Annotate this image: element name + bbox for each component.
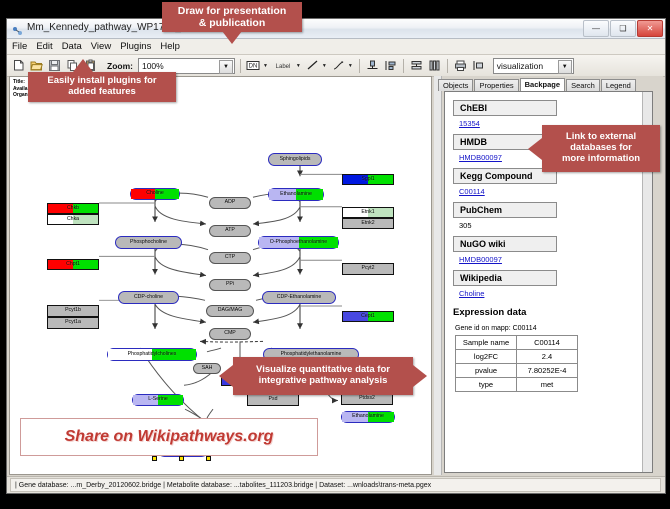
node-label: CTP (225, 255, 235, 260)
distribute-icon[interactable] (427, 58, 442, 73)
node-label: CDP-choline (134, 295, 163, 300)
share-banner-text: Share on Wikipathways.org (65, 428, 274, 446)
toolbar-separator (240, 59, 241, 73)
node-label: Ethanolamine (352, 414, 384, 419)
order-icon[interactable] (471, 58, 486, 73)
callout-visualize: Visualize quantitative data for integrat… (233, 357, 413, 395)
callout-plugins-arrow-icon (73, 59, 93, 72)
node-label: Chpt1 (66, 262, 80, 267)
menu-item-plugins[interactable]: Plugins (120, 41, 151, 52)
menu-item-edit[interactable]: Edit (36, 41, 52, 52)
db-header-nugo: NuGO wiki (453, 236, 557, 252)
panel-left-scrollbar[interactable] (434, 76, 442, 475)
node-label: Ptdss2 (359, 396, 375, 401)
node-label: Pcyt1b (65, 308, 81, 313)
zoom-label: Zoom: (107, 61, 133, 71)
tab-legend[interactable]: Legend (601, 79, 636, 91)
pathway-node-cept1[interactable]: Cept1 (342, 311, 394, 322)
data-node-dropdown-icon[interactable]: ▼ (263, 63, 268, 69)
data-node-icon[interactable]: DN (246, 58, 261, 73)
menu-item-view[interactable]: View (91, 41, 111, 52)
node-label: Sgpl1 (361, 177, 374, 182)
menu-item-file[interactable]: File (12, 41, 27, 52)
pathway-node-sah[interactable]: SAH (193, 363, 221, 374)
db-link-nugo[interactable]: HMDB00097 (459, 255, 652, 264)
node-label: Cept1 (361, 314, 375, 319)
table-cell-label: Sample name (456, 336, 517, 350)
node-label: Ethanolamine (280, 192, 312, 197)
node-label: Phosphocholine (130, 240, 167, 245)
table-row: Sample name C00114 (456, 336, 578, 350)
node-label: ADP (225, 200, 236, 205)
db-header-wikipedia: Wikipedia (453, 270, 557, 286)
pathway-node-cdp_ethanolamine[interactable]: CDP-Ethanolamine (262, 291, 336, 304)
pathway-node-pcyt1b[interactable]: Pcyt1b (47, 305, 99, 317)
pathway-node-etnk1[interactable]: Etnk1 (342, 207, 394, 218)
tab-properties[interactable]: Properties (474, 79, 518, 91)
pathway-node-ophosphoethanolamine[interactable]: O-Phosphoethanolamine (258, 236, 339, 249)
title-bar: Mm_Kennedy_pathway_WP1771_45176.gpml — ❑… (7, 19, 665, 39)
toolbar-separator-2 (359, 59, 360, 73)
callout-draw-arrow-icon (222, 31, 242, 44)
table-cell-label: log2FC (456, 350, 517, 364)
node-label: CDP-Ethanolamine (277, 295, 321, 300)
db-link-wikipedia[interactable]: Choline (459, 289, 652, 298)
chevron-down-icon[interactable]: ▼ (219, 60, 233, 74)
minimize-button[interactable]: — (583, 20, 609, 37)
pathway-node-psd[interactable]: Psd (247, 394, 299, 406)
callout-draw-text: Draw for presentation & publication (178, 5, 287, 29)
pathway-node-phosphocholine[interactable]: Phosphocholine (115, 236, 182, 249)
pathway-node-choline_top[interactable]: Choline (130, 188, 180, 200)
pathway-canvas[interactable]: Title: Availa Organ (9, 76, 432, 475)
interaction-icon[interactable] (331, 58, 346, 73)
callout-links-arrow-icon (528, 138, 542, 160)
pathway-node-pcyt1a[interactable]: Pcyt1a (47, 317, 99, 329)
pathway-node-phosphatidylcholines[interactable]: Phosphatidylcholines (107, 348, 197, 361)
side-panel-tabs: Objects Properties Backpage Search Legen… (438, 78, 653, 91)
status-text: | Gene database: ...m_Derby_20120602.bri… (10, 478, 661, 492)
chevron-down-icon-2[interactable]: ▼ (558, 60, 572, 74)
visualization-value: visualization (497, 61, 543, 71)
toolbar-separator-3 (403, 59, 404, 73)
line-dropdown-icon[interactable]: ▼ (322, 63, 327, 69)
table-cell-label: type (456, 378, 517, 392)
node-label: L-Serine (148, 397, 168, 402)
pathway-node-sphingolipids[interactable]: Sphingolipids (268, 153, 322, 166)
node-label: Phosphatidylcholines (128, 352, 177, 357)
callout-draw: Draw for presentation & publication (162, 2, 302, 32)
pathway-node-dagmag[interactable]: DAG/MAG (206, 305, 254, 317)
save-icon[interactable] (47, 58, 62, 73)
db-value-pubchem: 305 (459, 221, 652, 230)
table-cell-value: C00114 (517, 336, 578, 350)
node-label: CMP (224, 331, 236, 336)
table-cell-value: met (517, 378, 578, 392)
interaction-dropdown-icon[interactable]: ▼ (348, 63, 353, 69)
svg-text:Label: Label (276, 64, 291, 70)
pathway-node-ethanolamine_right[interactable]: Ethanolamine (341, 411, 395, 423)
node-label: Etnk1 (361, 210, 374, 215)
callout-visualize-arrow-left-icon (219, 365, 233, 387)
node-label: Chkb (67, 206, 79, 211)
pathway-node-cmp[interactable]: CMP (209, 328, 251, 340)
table-cell-value: 7.80252E-4 (517, 364, 578, 378)
node-label: Etnk2 (361, 221, 374, 226)
node-label: O-Phosphoethanolamine (270, 240, 327, 245)
table-cell-label: pvalue (456, 364, 517, 378)
share-banner: Share on Wikipathways.org (20, 418, 318, 456)
pathway-node-chka[interactable]: Chka (47, 214, 99, 225)
print-icon[interactable] (453, 58, 468, 73)
db-header-pubchem: PubChem (453, 202, 557, 218)
pathway-node-ethanolamine_top[interactable]: Ethanolamine (268, 188, 324, 201)
tab-objects[interactable]: Objects (438, 79, 473, 91)
stack-icon[interactable] (409, 58, 424, 73)
pathway-node-pcyt2[interactable]: Pcyt2 (342, 263, 394, 275)
callout-plugins-text: Easily install plugins for added feature… (47, 76, 156, 98)
callout-visualize-text: Visualize quantitative data for integrat… (256, 365, 390, 387)
callout-links-text: Link to external databases for more info… (562, 132, 640, 165)
node-label: Pcyt2 (362, 266, 375, 271)
pathway-node-lserine_left[interactable]: L-Serine (132, 394, 184, 406)
new-file-icon[interactable] (11, 58, 26, 73)
pathway-node-sgpl1[interactable]: Sgpl1 (342, 174, 394, 185)
toolbar-separator-4 (447, 59, 448, 73)
pathway-node-chpt1[interactable]: Chpt1 (47, 259, 99, 270)
pathway-node-atp[interactable]: ATP (209, 225, 251, 237)
pathway-node-etnk2[interactable]: Etnk2 (342, 218, 394, 229)
menu-bar: File Edit Data View Plugins Help (7, 39, 665, 55)
menu-item-data[interactable]: Data (62, 41, 82, 52)
close-button[interactable]: ✕ (637, 20, 663, 37)
table-row: log2FC 2.4 (456, 350, 578, 364)
expression-table: Sample name C00114 log2FC 2.4 pvalue 7.8… (455, 335, 578, 392)
align-left-icon[interactable] (383, 58, 398, 73)
node-label: Sphingolipids (280, 157, 311, 162)
table-cell-value: 2.4 (517, 350, 578, 364)
node-label: DAG/MAG (218, 308, 243, 313)
node-label: Pcyt1a (65, 320, 81, 325)
svg-text:DN: DN (249, 64, 258, 70)
screenshot-root: Mm_Kennedy_pathway_WP1771_45176.gpml — ❑… (0, 0, 670, 509)
visualization-combo[interactable]: visualization ▼ (493, 58, 574, 74)
node-label: Chka (67, 217, 79, 222)
pathway-node-adp[interactable]: ADP (209, 197, 251, 209)
db-link-kegg[interactable]: C00114 (459, 187, 652, 196)
expression-data-title: Expression data (453, 307, 652, 318)
pathway-node-chkb[interactable]: Chkb (47, 203, 99, 214)
label-dropdown-icon[interactable]: ▼ (296, 63, 301, 69)
node-label: ATP (225, 228, 235, 233)
node-label: SAH (202, 366, 213, 371)
db-header-chebi: ChEBI (453, 100, 557, 116)
node-label: PPi (226, 282, 234, 287)
maximize-button[interactable]: ❑ (610, 20, 636, 37)
callout-plugins: Easily install plugins for added feature… (28, 72, 176, 102)
zoom-value: 100% (142, 61, 164, 71)
line-icon[interactable] (305, 58, 320, 73)
open-folder-icon[interactable] (29, 58, 44, 73)
pathway-node-cdp_choline[interactable]: CDP-choline (118, 291, 179, 304)
menu-item-help[interactable]: Help (160, 41, 180, 52)
window-controls: — ❑ ✕ (583, 20, 663, 37)
table-row: type met (456, 378, 578, 392)
callout-visualize-arrow-right-icon (413, 365, 427, 387)
node-label: Choline (146, 191, 164, 196)
label-icon[interactable]: Label (272, 58, 294, 73)
callout-links: Link to external databases for more info… (542, 125, 660, 172)
align-top-icon[interactable] (365, 58, 380, 73)
gene-id-line: Gene id on mapp: C00114 (455, 325, 652, 332)
node-label: Psd (269, 397, 278, 402)
tab-search[interactable]: Search (566, 79, 600, 91)
tab-backpage[interactable]: Backpage (520, 78, 565, 91)
pathway-node-ppi[interactable]: PPi (209, 279, 251, 291)
pathway-node-ctp[interactable]: CTP (209, 252, 251, 264)
pathvisio-icon (12, 23, 23, 34)
table-row: pvalue 7.80252E-4 (456, 364, 578, 378)
status-bar: | Gene database: ...m_Derby_20120602.bri… (7, 476, 665, 493)
